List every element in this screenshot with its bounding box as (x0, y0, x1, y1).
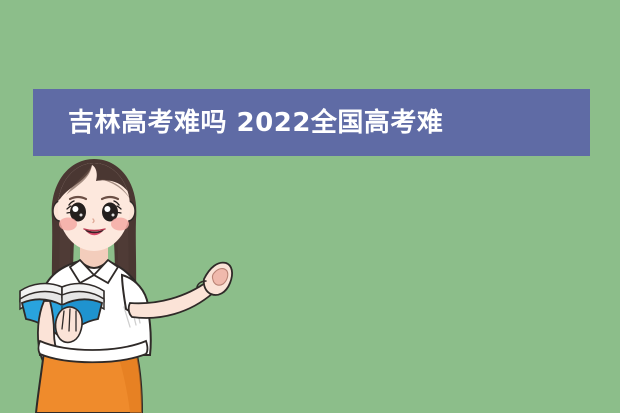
page-title: 吉林高考难吗 2022全国高考难 (68, 110, 443, 136)
holding-hand (56, 307, 83, 342)
poster-canvas: 吉林高考难吗 2022全国高考难 (0, 0, 620, 413)
student-girl-illustration (18, 155, 288, 413)
title-banner: 吉林高考难吗 2022全国高考难 (33, 89, 590, 156)
extended-arm-group (122, 263, 232, 318)
